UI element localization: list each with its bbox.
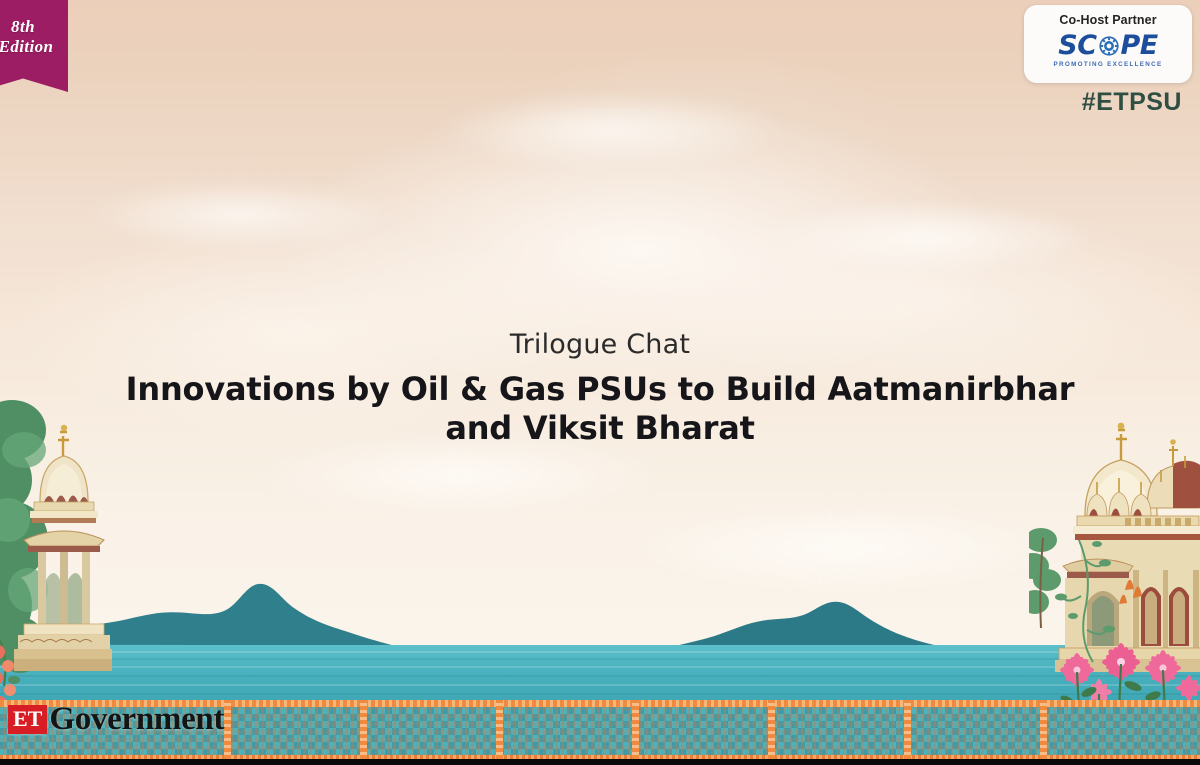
border-divider xyxy=(1040,700,1047,759)
cloud-wisp xyxy=(430,90,790,170)
et-logo-name: Government xyxy=(49,702,224,736)
border-divider xyxy=(224,700,231,759)
session-title-line1: Innovations by Oil & Gas PSUs to Build A… xyxy=(0,370,1200,409)
scope-logo-text-right: PE xyxy=(1121,32,1158,59)
et-logo-mark: ET xyxy=(8,705,47,734)
border-divider xyxy=(768,700,775,759)
cloud-wisp xyxy=(80,180,400,250)
gear-icon xyxy=(1098,35,1120,57)
scope-logo: SC xyxy=(1058,32,1158,59)
co-host-partner-card: Co-Host Partner SC xyxy=(1024,5,1192,83)
border-divider xyxy=(360,700,367,759)
event-hashtag: #ETPSU xyxy=(1082,88,1182,117)
session-title: Innovations by Oil & Gas PSUs to Build A… xyxy=(0,370,1200,448)
presentation-slide: 8th Edition Co-Host Partner SC xyxy=(0,0,1200,765)
right-palace-illustration xyxy=(1029,420,1200,720)
lake-water xyxy=(0,645,1200,705)
border-divider xyxy=(496,700,503,759)
bottom-letterbox xyxy=(0,759,1200,765)
scope-logo-tagline: PROMOTING EXCELLENCE xyxy=(1054,61,1163,68)
cloud-wisp xyxy=(760,200,1100,275)
scope-logo-text-left: SC xyxy=(1058,32,1096,59)
co-host-partner-label: Co-Host Partner xyxy=(1059,13,1156,27)
border-divider xyxy=(904,700,911,759)
border-divider xyxy=(632,700,639,759)
edition-badge: 8th Edition xyxy=(0,0,68,92)
session-title-block: Trilogue Chat Innovations by Oil & Gas P… xyxy=(0,328,1200,448)
session-title-line2: and Viksit Bharat xyxy=(0,409,1200,448)
edition-badge-line2: Edition xyxy=(0,37,53,57)
et-government-logo: ET Government xyxy=(8,702,224,736)
session-kicker: Trilogue Chat xyxy=(0,328,1200,362)
edition-badge-line1: 8th xyxy=(11,17,35,37)
